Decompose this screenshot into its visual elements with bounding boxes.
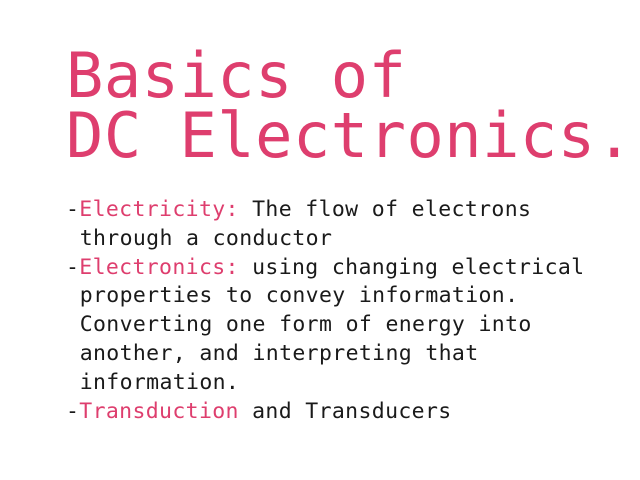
slide-canvas: Basics of DC Electronics. -Electricity: … bbox=[0, 0, 640, 480]
list-item: -Electronics: using changing electrical bbox=[66, 254, 640, 283]
list-item-continuation: information. bbox=[66, 369, 640, 398]
bullet-text: using changing electrical bbox=[239, 255, 585, 280]
bullet-term: Electronics: bbox=[79, 255, 239, 280]
bullet-marker: - bbox=[66, 399, 79, 424]
list-item: -Electricity: The flow of electrons bbox=[66, 196, 640, 225]
bullet-term: Transduction bbox=[79, 399, 239, 424]
bullet-text: another, and interpreting that bbox=[80, 341, 479, 366]
list-item: -Transduction and Transducers bbox=[66, 398, 640, 427]
bullet-text: information. bbox=[80, 370, 240, 395]
list-item-continuation: another, and interpreting that bbox=[66, 340, 640, 369]
list-item-continuation: properties to convey information. bbox=[66, 282, 640, 311]
bullet-text: and Transducers bbox=[239, 399, 452, 424]
bullet-marker: - bbox=[66, 197, 79, 222]
bullet-text: through a conductor bbox=[80, 226, 333, 251]
bullet-text: properties to convey information. bbox=[80, 283, 519, 308]
list-item-continuation: Converting one form of energy into bbox=[66, 311, 640, 340]
title-line-1: Basics of bbox=[66, 46, 640, 106]
slide-title: Basics of DC Electronics. bbox=[66, 46, 640, 166]
bullet-text: Converting one form of energy into bbox=[80, 312, 532, 337]
title-line-2: DC Electronics. bbox=[66, 106, 640, 166]
bullet-term: Electricity: bbox=[79, 197, 239, 222]
bullet-text: The flow of electrons bbox=[239, 197, 531, 222]
bullet-marker: - bbox=[66, 255, 79, 280]
slide-body: -Electricity: The flow of electrons thro… bbox=[66, 196, 640, 426]
list-item-continuation: through a conductor bbox=[66, 225, 640, 254]
